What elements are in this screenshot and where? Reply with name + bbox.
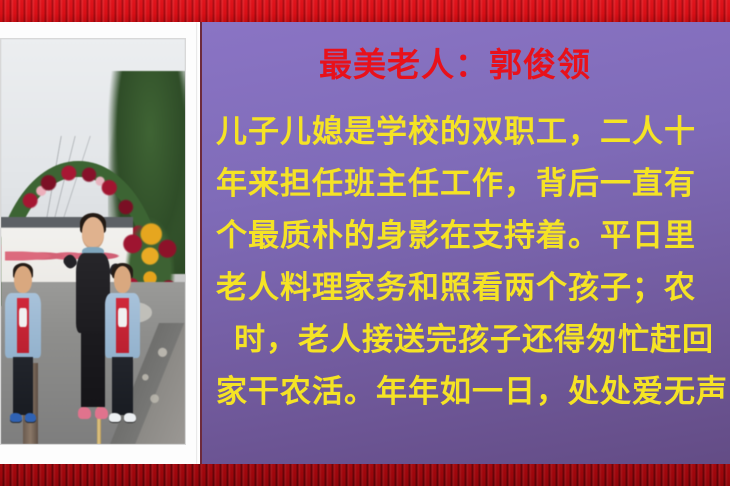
child-right-figure (104, 266, 141, 428)
child-right-legs (112, 357, 133, 415)
page-title: 最美老人：郭俊领 (202, 48, 730, 81)
photo-scene (1, 39, 185, 444)
child-left-legs (13, 357, 34, 415)
child-right-shoe-left (109, 413, 121, 423)
woman-head (82, 217, 105, 249)
slide-canvas: 最美老人：郭俊领 儿子儿媳是学校的双职工，二人十 年来担任班主任工作，背后一直有… (0, 0, 730, 486)
top-curtain-band (0, 0, 730, 22)
body-line: 年来担任班主任工作，背后一直有 (216, 158, 730, 210)
body-line: 个最质朴的身影在支持着。平日里 (216, 210, 730, 262)
body-line: 家干农活。年年如一日，处处爱无声 (216, 366, 730, 418)
child-left-shirt-print (19, 308, 28, 327)
child-right-shoe-right (124, 413, 136, 423)
body-line: 时，老人接送完孩子还得匆忙赶回 (216, 314, 730, 366)
woman-shoe-left (78, 407, 91, 420)
text-panel: 最美老人：郭俊领 儿子儿媳是学校的双职工，二人十 年来担任班主任工作，背后一直有… (200, 22, 730, 465)
child-left-shoe-left (10, 413, 22, 423)
body-text: 儿子儿媳是学校的双职工，二人十 年来担任班主任工作，背后一直有 个最质朴的身影在… (216, 106, 730, 418)
bottom-curtain-band (0, 464, 730, 486)
child-right-head (114, 266, 132, 294)
child-left-figure (5, 266, 42, 428)
child-right-shirt-print (118, 308, 127, 327)
woman-legs (81, 331, 106, 407)
photo-card (0, 22, 196, 465)
body-line: 儿子儿媳是学校的双职工，二人十 (216, 106, 730, 158)
photo-image (0, 38, 186, 445)
child-left-shoe-right (25, 413, 37, 423)
body-line: 老人料理家务和照看两个孩子；农 (216, 262, 730, 314)
child-left-head (14, 266, 32, 294)
